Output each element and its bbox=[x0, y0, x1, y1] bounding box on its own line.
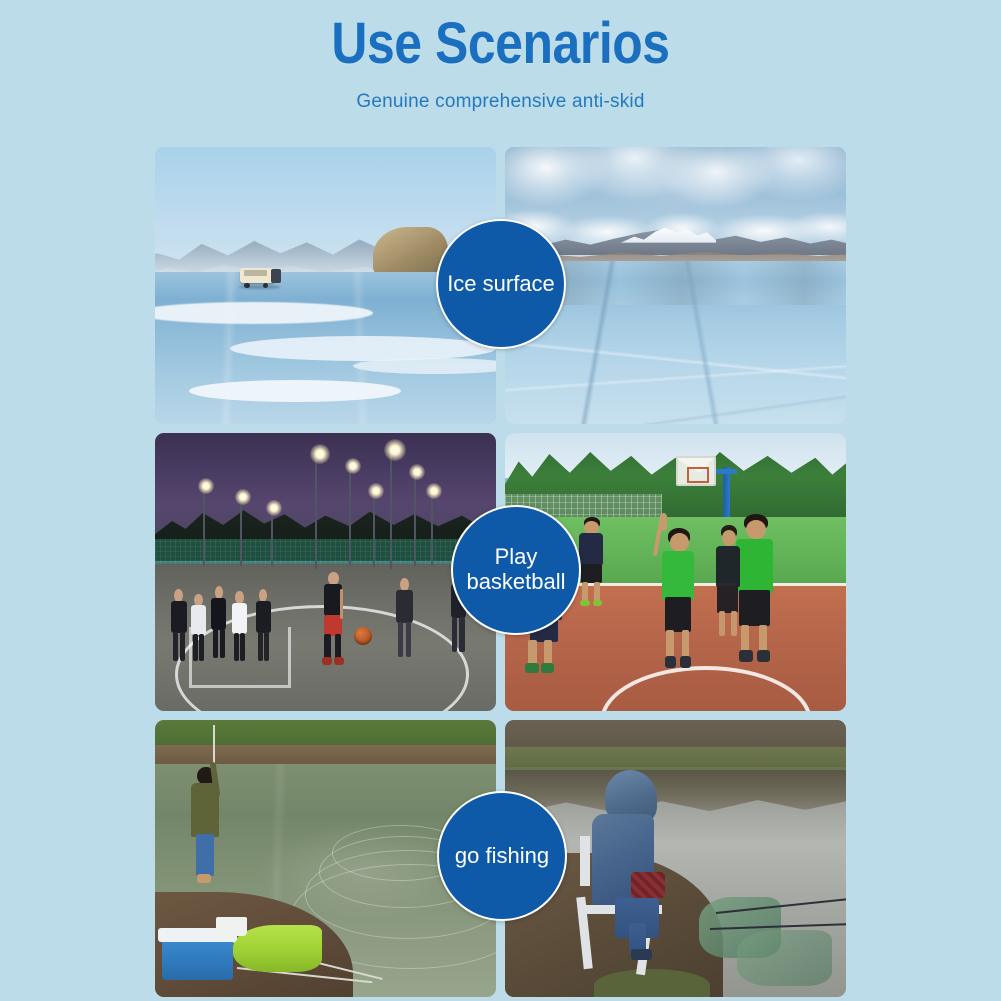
player-figure bbox=[230, 591, 249, 660]
badge-go-fishing-label: go fishing bbox=[439, 844, 565, 869]
dribbling-player-figure bbox=[319, 572, 350, 666]
player-figure bbox=[394, 578, 416, 661]
keepnet-icon bbox=[737, 930, 832, 985]
header: Use Scenarios Genuine comprehensive anti… bbox=[0, 0, 1001, 113]
van-icon bbox=[240, 265, 281, 287]
badge-play-basketball[interactable]: Play basketball bbox=[451, 505, 581, 635]
page-subtitle: Genuine comprehensive anti-skid bbox=[0, 91, 1001, 113]
photo-night-basketball-court bbox=[155, 433, 496, 710]
scenario-tile-night-basketball[interactable] bbox=[155, 433, 496, 710]
player-figure bbox=[254, 589, 273, 661]
badge-play-basketball-label: Play basketball bbox=[453, 545, 579, 594]
badge-go-fishing[interactable]: go fishing bbox=[437, 791, 567, 921]
badge-ice-surface-label: Ice surface bbox=[438, 272, 564, 297]
kid-player-figure bbox=[655, 525, 703, 669]
kid-player-figure bbox=[710, 525, 748, 647]
basketball-hoop-icon bbox=[676, 456, 717, 487]
angler-figure bbox=[189, 767, 230, 883]
angler-figure bbox=[587, 770, 669, 953]
page-title: Use Scenarios bbox=[70, 14, 931, 75]
badge-ice-surface[interactable]: Ice surface bbox=[436, 219, 566, 349]
bucket-icon bbox=[216, 917, 247, 936]
player-figure bbox=[189, 594, 208, 661]
player-figure bbox=[210, 586, 229, 658]
player-figure bbox=[169, 589, 189, 661]
cooler-box-icon bbox=[162, 936, 234, 980]
